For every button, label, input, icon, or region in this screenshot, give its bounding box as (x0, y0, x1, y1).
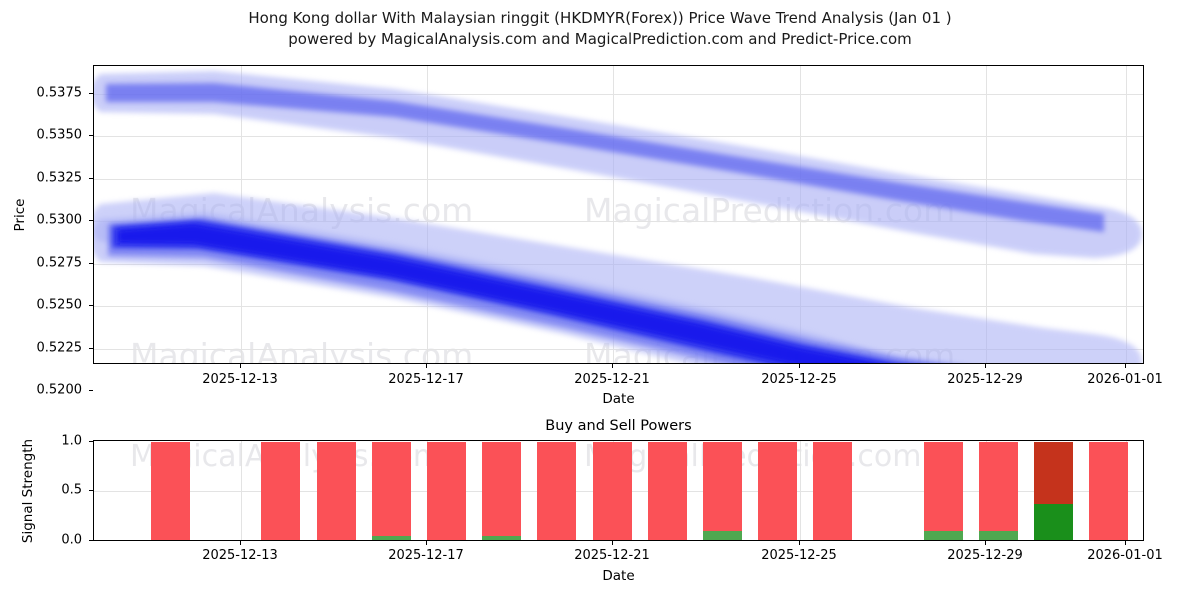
ytick-label-0: 0.5375 (20, 86, 82, 101)
signal-xtick-mark-2 (612, 541, 613, 545)
chart-title-line-2: powered by MagicalAnalysis.com and Magic… (0, 29, 1200, 50)
main-xtick-label-4: 2025-12-29 (947, 372, 1023, 387)
signal-xtick-label-5: 2026-01-01 (1087, 548, 1163, 563)
signal-ytick-mark-0.5 (89, 490, 93, 491)
ytick-mark-1 (89, 135, 93, 136)
ytick-label-4: 0.5275 (20, 256, 82, 271)
sell-power-bar[interactable] (151, 442, 190, 541)
chart-title: Hong Kong dollar With Malaysian ringgit … (0, 8, 1200, 50)
sell-power-bar[interactable] (317, 442, 356, 541)
sell-power-bar[interactable] (537, 442, 576, 541)
sell-power-bar[interactable] (703, 442, 742, 541)
main-xtick-label-3: 2025-12-25 (761, 372, 837, 387)
signal-bars-layer (94, 441, 1144, 541)
signal-xtick-label-1: 2025-12-17 (388, 548, 464, 563)
xtick-mark-2 (612, 364, 613, 368)
signal-ytick-mark-1.0 (89, 441, 93, 442)
signal-ytick-label-0.0: 0.0 (30, 533, 82, 548)
signal-ytick-label-0.5: 0.5 (30, 483, 82, 498)
main-xtick-label-5: 2026-01-01 (1087, 372, 1163, 387)
signal-xtick-mark-3 (799, 541, 800, 545)
signal-x-axis-label: Date (93, 568, 1144, 584)
main-x-axis-label: Date (93, 391, 1144, 407)
signal-bar-2025-12-18[interactable] (482, 441, 521, 541)
buy-power-bar[interactable] (1034, 504, 1073, 541)
signal-xtick-label-2: 2025-12-21 (574, 548, 650, 563)
xtick-mark-4 (985, 364, 986, 368)
signal-bar-2025-12-25[interactable] (813, 441, 852, 541)
buy-sell-powers-plot-area: MagicalAnalysis.com MagicalPrediction.co… (93, 440, 1144, 541)
sell-power-bar[interactable] (979, 442, 1018, 541)
chart-figure: Hong Kong dollar With Malaysian ringgit … (0, 0, 1200, 600)
signal-xtick-label-0: 2025-12-13 (202, 548, 278, 563)
ytick-mark-4 (89, 263, 93, 264)
sell-power-bar[interactable] (593, 442, 632, 541)
ytick-mark-6 (89, 348, 93, 349)
main-xtick-label-0: 2025-12-13 (202, 372, 278, 387)
main-y-axis-label: Price (12, 175, 28, 255)
sell-power-bar[interactable] (261, 442, 300, 541)
ytick-label-3: 0.5300 (20, 213, 82, 228)
signal-bar-2025-12-16[interactable] (372, 441, 411, 541)
signal-bar-2025-12-21[interactable] (593, 441, 632, 541)
signal-ytick-label-1.0: 1.0 (30, 434, 82, 449)
xtick-mark-5 (1125, 364, 1126, 368)
sell-power-bar[interactable] (427, 442, 466, 541)
ytick-label-6: 0.5225 (20, 341, 82, 356)
ytick-mark-0 (89, 93, 93, 94)
main-xtick-label-2: 2025-12-21 (574, 372, 650, 387)
buy-power-bar[interactable] (979, 531, 1018, 541)
ytick-mark-2 (89, 178, 93, 179)
signal-bar-2025-12-14[interactable] (261, 441, 300, 541)
signal-bar-2025-12-23[interactable] (703, 441, 742, 541)
signal-bar-2025-12-24[interactable] (758, 441, 797, 541)
signal-x-ticks (93, 541, 1144, 547)
signal-bar-2025-12-11[interactable] (151, 441, 190, 541)
ytick-label-1: 0.5350 (20, 128, 82, 143)
main-y-ticks (89, 65, 95, 364)
signal-xtick-label-4: 2025-12-29 (947, 548, 1023, 563)
signal-xtick-label-3: 2025-12-25 (761, 548, 837, 563)
sell-power-bar[interactable] (372, 442, 411, 541)
xtick-mark-3 (799, 364, 800, 368)
signal-bar-2025-12-22[interactable] (648, 441, 687, 541)
signal-y-axis-label: Signal Strength (20, 426, 36, 556)
signal-xtick-mark-1 (426, 541, 427, 545)
signal-y-ticks (89, 440, 95, 541)
signal-bar-2025-12-17[interactable] (427, 441, 466, 541)
signal-bar-2025-12-19[interactable] (537, 441, 576, 541)
ytick-label-5: 0.5250 (20, 298, 82, 313)
sell-power-bar[interactable] (648, 442, 687, 541)
signal-bar-2025-12-28[interactable] (924, 441, 963, 541)
signal-bar-2025-12-29[interactable] (979, 441, 1018, 541)
price-wave-plot-area: MagicalAnalysis.com MagicalPrediction.co… (93, 65, 1144, 364)
signal-xtick-mark-0 (240, 541, 241, 545)
buy-power-bar[interactable] (703, 531, 742, 541)
sell-power-bar[interactable] (1089, 442, 1128, 541)
main-xtick-label-1: 2025-12-17 (388, 372, 464, 387)
ytick-mark-5 (89, 305, 93, 306)
main-x-ticks (93, 364, 1144, 370)
signal-xtick-mark-5 (1125, 541, 1126, 545)
ytick-label-2: 0.5325 (20, 171, 82, 186)
signal-subplot-title: Buy and Sell Powers (93, 418, 1144, 434)
buy-power-bar[interactable] (924, 531, 963, 541)
ytick-mark-3 (89, 220, 93, 221)
sell-power-bar[interactable] (482, 442, 521, 541)
xtick-mark-1 (426, 364, 427, 368)
signal-xtick-mark-4 (985, 541, 986, 545)
chart-title-line-1: Hong Kong dollar With Malaysian ringgit … (0, 8, 1200, 29)
signal-bar-2025-12-31[interactable] (1089, 441, 1128, 541)
sell-power-bar[interactable] (813, 442, 852, 541)
xtick-mark-0 (240, 364, 241, 368)
sell-power-bar[interactable] (924, 442, 963, 541)
signal-bar-2025-12-15[interactable] (317, 441, 356, 541)
signal-bar-2025-12-30[interactable] (1034, 441, 1073, 541)
sell-power-bar[interactable] (758, 442, 797, 541)
ytick-label-7: 0.5200 (20, 383, 82, 398)
price-wave-bands (94, 66, 1144, 364)
